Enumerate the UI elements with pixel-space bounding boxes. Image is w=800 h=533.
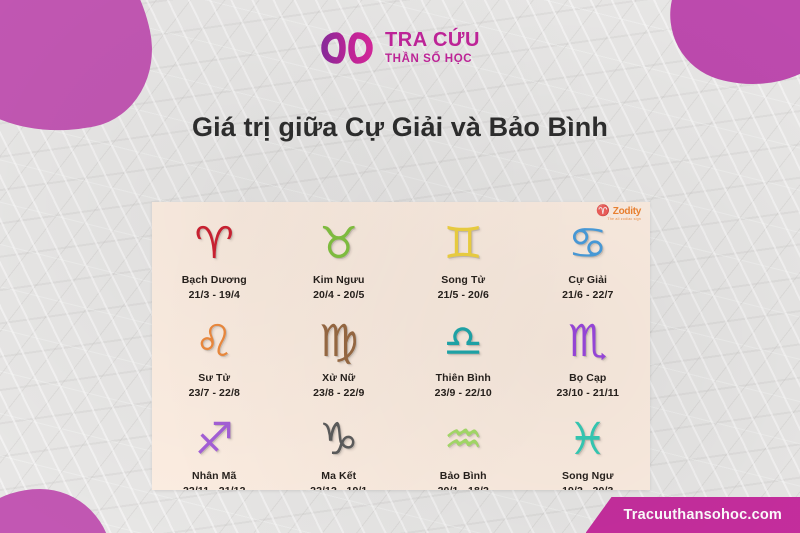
zodiac-cell: ♉Kim Ngưu20/4 - 20/5 xyxy=(277,216,402,314)
zodiac-sign-dates: 22/11 - 21/12 xyxy=(183,485,246,490)
zodiac-sign-icon: ♎ xyxy=(444,314,483,370)
zodiac-sign-name: Song Ngư xyxy=(562,470,614,482)
zodiac-sign-dates: 23/9 - 22/10 xyxy=(435,387,492,399)
zodiac-sign-icon: ♓ xyxy=(568,412,607,468)
zodiac-cell: ♒Bảo Bình20/1 - 18/2 xyxy=(401,412,526,490)
zodiac-sign-dates: 23/7 - 22/8 xyxy=(189,387,240,399)
zodiac-sign-dates: 20/1 - 18/2 xyxy=(438,485,489,490)
zodiac-cell: ♊Song Tử21/5 - 20/6 xyxy=(401,216,526,314)
zodiac-sign-name: Sư Tử xyxy=(198,372,230,384)
logo-line-secondary: THẦN SỐ HỌC xyxy=(385,54,472,66)
zodiac-cell: ♏Bọ Cạp23/10 - 21/11 xyxy=(526,314,651,412)
zodiac-sign-icon: ♉ xyxy=(319,216,358,272)
zodiac-cell: ♓Song Ngư19/2 - 20/3 xyxy=(526,412,651,490)
zodiac-sign-name: Ma Kết xyxy=(321,470,356,482)
zodiac-sign-name: Nhân Mã xyxy=(192,470,236,482)
site-logo[interactable]: TRA CỨU THẦN SỐ HỌC xyxy=(0,30,800,66)
zodiac-chart-card: ♈ Zodity The all zodiac sign ♈Bạch Dương… xyxy=(152,202,650,490)
zodiac-sign-dates: 19/2 - 20/3 xyxy=(562,485,613,490)
zodiac-cell: ♑Ma Kết22/12 - 19/1 xyxy=(277,412,402,490)
logo-line-primary: TRA CỨU xyxy=(385,30,480,50)
zodiac-sign-name: Xử Nữ xyxy=(322,372,355,384)
zodiac-sign-dates: 21/5 - 20/6 xyxy=(438,289,489,301)
zodiac-sign-grid: ♈Bạch Dương21/3 - 19/4♉Kim Ngưu20/4 - 20… xyxy=(152,216,650,490)
zodiac-sign-icon: ♋ xyxy=(568,216,607,272)
zodiac-cell: ♍Xử Nữ23/8 - 22/9 xyxy=(277,314,402,412)
zodiac-sign-icon: ♍ xyxy=(319,314,358,370)
zodiac-cell: ♋Cự Giải21/6 - 22/7 xyxy=(526,216,651,314)
zodiac-sign-name: Bảo Bình xyxy=(440,470,487,482)
zodiac-sign-icon: ♒ xyxy=(444,412,483,468)
zodiac-sign-icon: ♑ xyxy=(319,412,358,468)
page-title: Giá trị giữa Cự Giải và Bảo Bình xyxy=(120,110,680,146)
zodiac-sign-name: Bọ Cạp xyxy=(569,372,606,384)
zodiac-sign-name: Bạch Dương xyxy=(182,274,247,286)
zodiac-sign-dates: 20/4 - 20/5 xyxy=(313,289,364,301)
zodiac-sign-icon: ♊ xyxy=(444,216,483,272)
zodiac-cell: ♌Sư Tử23/7 - 22/8 xyxy=(152,314,277,412)
zodiac-cell: ♐Nhân Mã22/11 - 21/12 xyxy=(152,412,277,490)
zodiac-sign-icon: ♈ xyxy=(195,216,234,272)
footer-website-label: Tracuuthansohoc.com xyxy=(624,507,783,523)
footer-banner[interactable]: Tracuuthansohoc.com xyxy=(586,497,800,533)
logo-wordmark: TRA CỨU THẦN SỐ HỌC xyxy=(385,30,480,66)
zodiac-sign-name: Thiên Bình xyxy=(436,372,491,384)
zodiac-cell: ♈Bạch Dương21/3 - 19/4 xyxy=(152,216,277,314)
zodiac-sign-icon: ♌ xyxy=(195,314,234,370)
zodiac-cell: ♎Thiên Bình23/9 - 22/10 xyxy=(401,314,526,412)
zodiac-sign-dates: 21/3 - 19/4 xyxy=(189,289,240,301)
zodiac-sign-dates: 23/10 - 21/11 xyxy=(556,387,619,399)
zodiac-sign-name: Kim Ngưu xyxy=(313,274,365,286)
zodiac-sign-icon: ♐ xyxy=(195,412,234,468)
watermark-word: Zodity xyxy=(613,207,641,217)
decorative-blob-bottom-left xyxy=(0,489,112,533)
zodiac-sign-dates: 23/8 - 22/9 xyxy=(313,387,364,399)
zodiac-sign-icon: ♏ xyxy=(568,314,607,370)
zodiac-sign-dates: 21/6 - 22/7 xyxy=(562,289,613,301)
zodiac-sign-name: Song Tử xyxy=(441,274,485,286)
zodiac-sign-dates: 22/12 - 19/1 xyxy=(310,485,367,490)
page-background: TRA CỨU THẦN SỐ HỌC Giá trị giữa Cự Giải… xyxy=(0,0,800,533)
infinity-icon xyxy=(320,31,374,65)
zodiac-sign-name: Cự Giải xyxy=(568,274,607,286)
